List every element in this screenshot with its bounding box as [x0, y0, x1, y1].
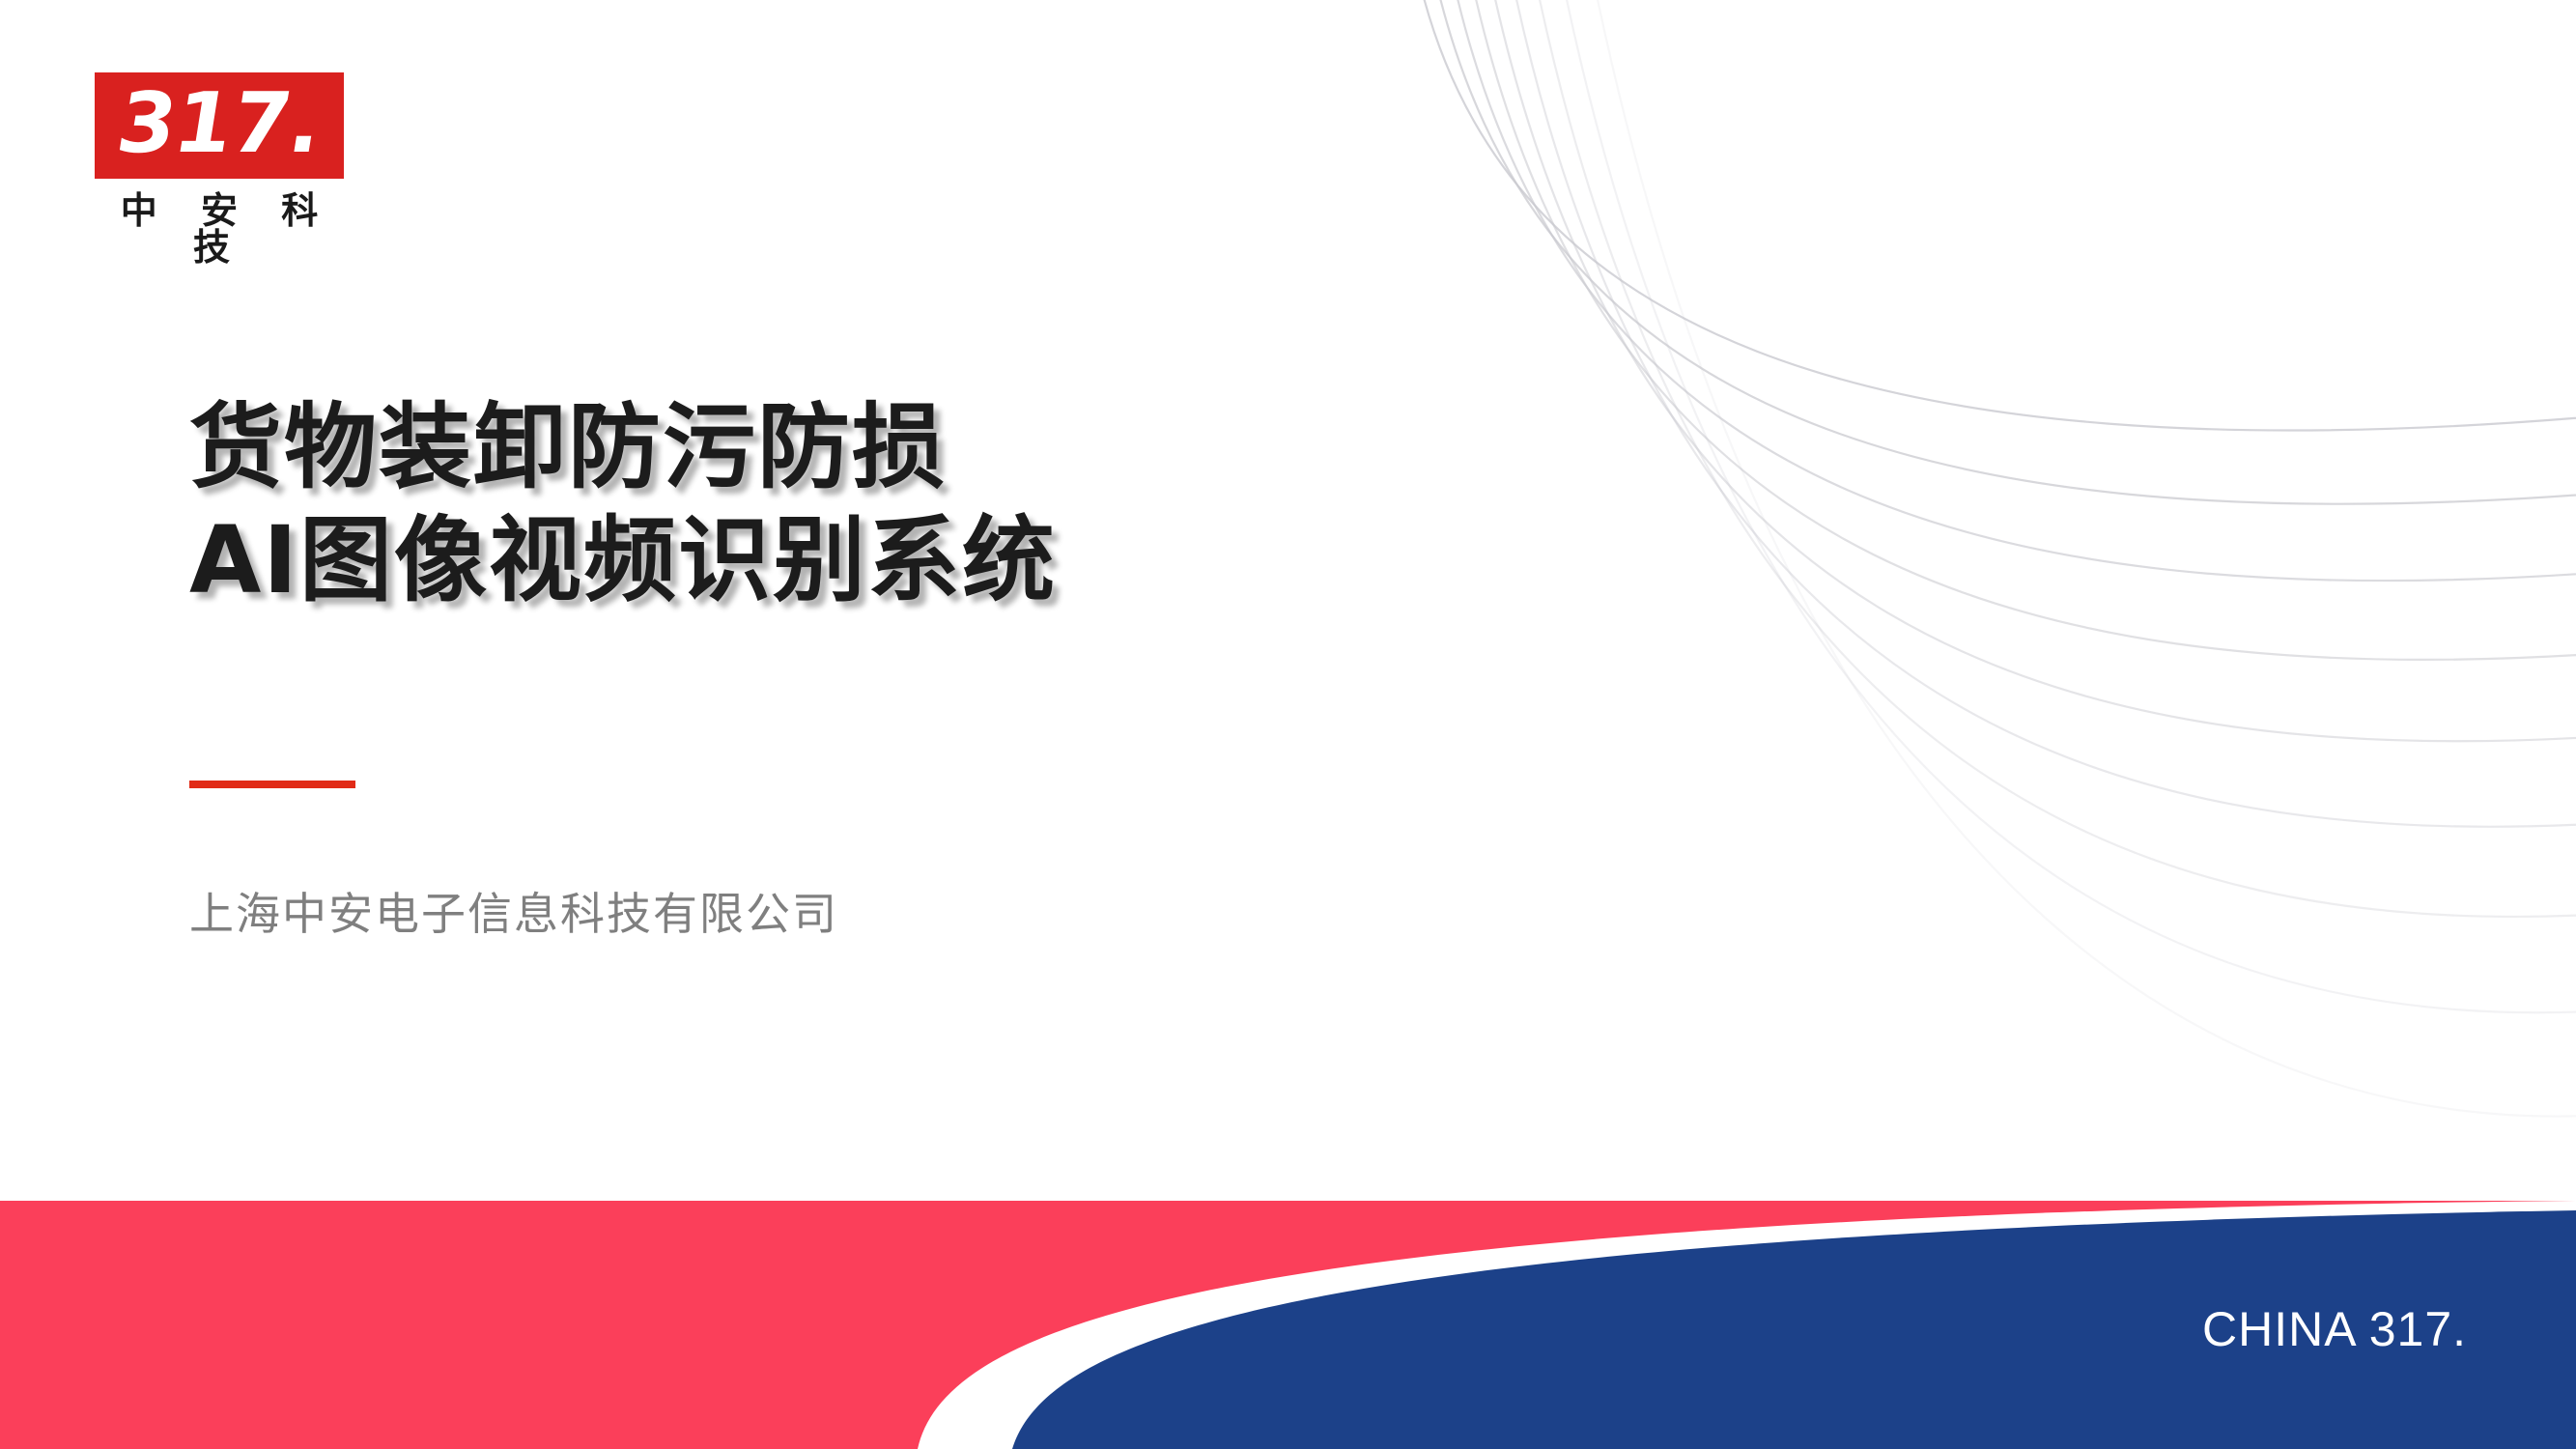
logo-wordmark: 317. — [117, 82, 321, 165]
footer-banner — [0, 1201, 2576, 1449]
page-title: 货物装卸防污防损 AI图像视频识别系统 — [189, 391, 1542, 617]
footer-brand-label: CHINA 317. — [2202, 1301, 2467, 1357]
company-name-subtitle: 上海中安电子信息科技有限公司 — [189, 879, 838, 943]
brand-logo: 317. 中 安 科 技 — [95, 72, 344, 266]
slide-canvas: 317. 中 安 科 技 货物装卸防污防损 AI图像视频识别系统 上海中安电子信… — [0, 0, 2576, 1449]
logo-company-short: 中 安 科 技 — [95, 192, 344, 266]
title-divider — [189, 781, 355, 788]
logo-mark-box: 317. — [95, 72, 344, 179]
page-title-line-1: 货物装卸防污防损 — [189, 391, 1542, 504]
page-title-line-2: AI图像视频识别系统 — [189, 504, 1542, 617]
